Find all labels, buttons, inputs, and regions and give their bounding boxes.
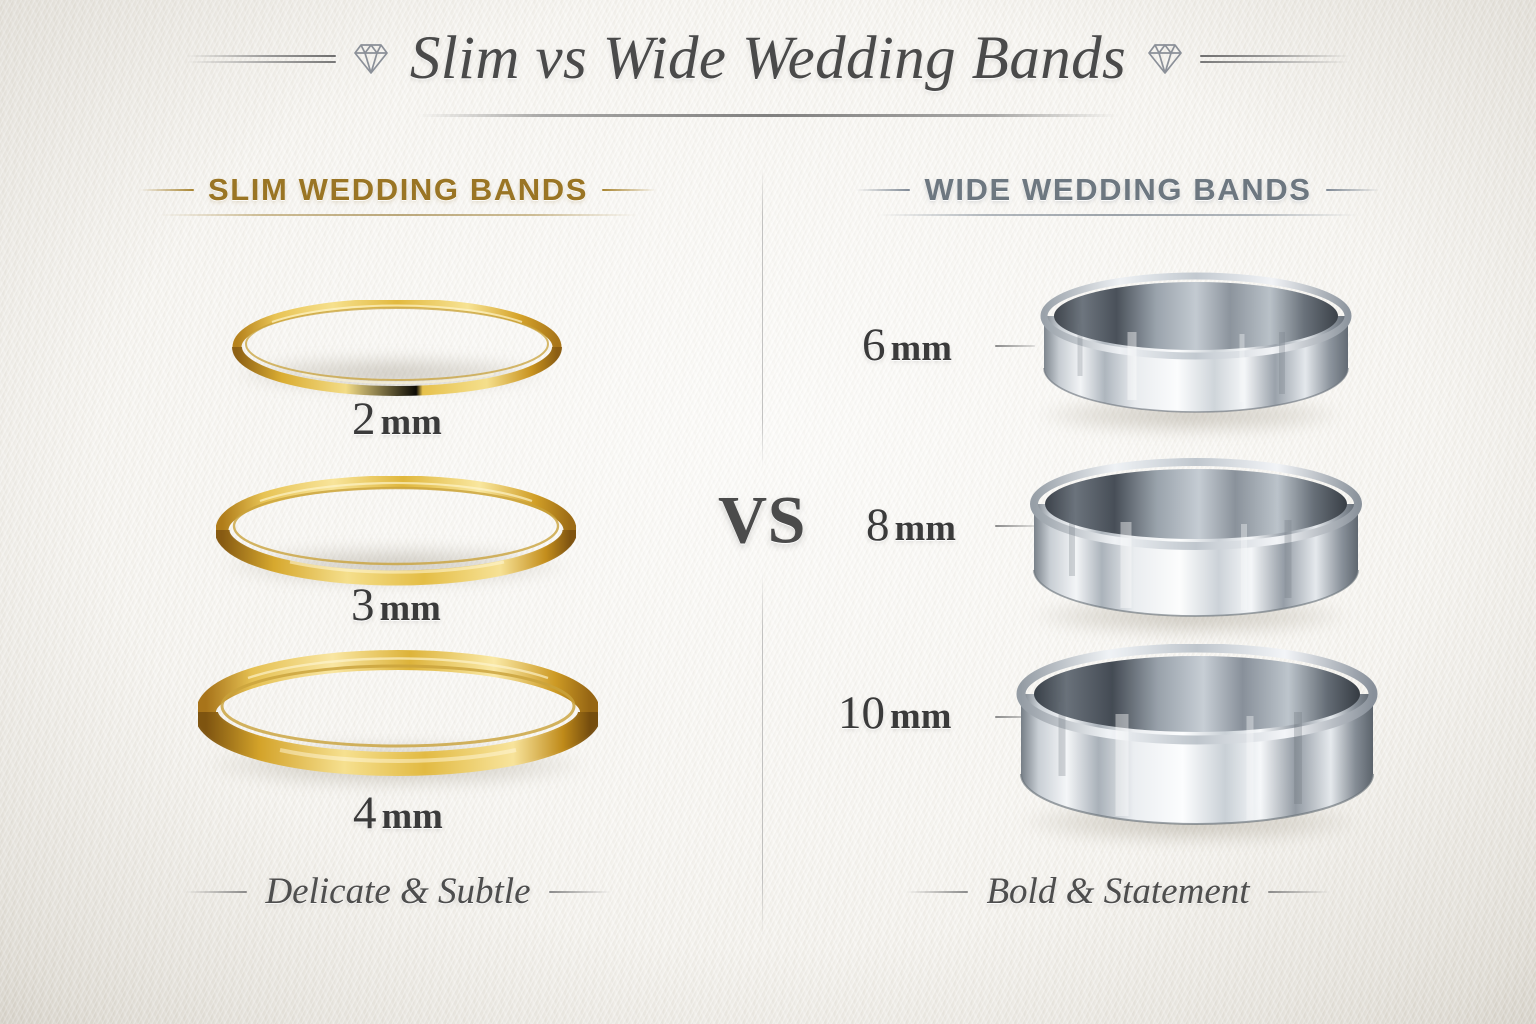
wide-heading-label: WIDE WEDDING BANDS xyxy=(924,172,1311,208)
wide-footer-label: Bold & Statement xyxy=(986,870,1249,913)
slim-footer-label: Delicate & Subtle xyxy=(265,870,530,913)
leader-dash-6mm xyxy=(995,345,1035,347)
title-rule-right xyxy=(1200,54,1350,64)
heading-dash-left xyxy=(140,189,194,191)
heading-dash-left xyxy=(856,189,910,191)
ring-label-2mm: 2mm xyxy=(232,392,562,446)
gold-ring-4mm xyxy=(198,650,598,800)
ring-label-10mm: 10mm xyxy=(838,686,952,740)
ring-label-8mm: 8mm xyxy=(866,498,956,552)
ring-label-3mm: 3mm xyxy=(216,578,576,632)
center-divider-top xyxy=(762,168,763,468)
slim-column-heading: SLIM WEDDING BANDS xyxy=(118,172,678,208)
silver-ring-10mm xyxy=(1012,644,1382,859)
silver-ring-6mm xyxy=(1036,272,1356,442)
diamond-icon xyxy=(1146,42,1184,76)
slim-heading-label: SLIM WEDDING BANDS xyxy=(208,172,588,208)
wide-column-heading: WIDE WEDDING BANDS xyxy=(838,172,1398,208)
footer-dash-left xyxy=(185,891,247,893)
infographic-canvas: Slim vs Wide Wedding Bands SLIM WEDDING … xyxy=(0,0,1536,1024)
silver-ring-8mm xyxy=(1026,458,1366,648)
heading-dash-right xyxy=(1326,189,1380,191)
heading-underline xyxy=(878,214,1358,216)
center-divider-bottom xyxy=(762,572,763,936)
footer-dash-left xyxy=(906,891,968,893)
heading-underline xyxy=(158,214,638,216)
vs-badge: VS xyxy=(718,481,806,560)
diamond-icon xyxy=(352,42,390,76)
ring-label-4mm: 4mm xyxy=(198,786,598,840)
heading-dash-right xyxy=(602,189,656,191)
title-underline xyxy=(418,114,1118,117)
footer-dash-right xyxy=(1268,891,1330,893)
title-rule-left xyxy=(186,54,336,64)
ring-label-6mm: 6mm xyxy=(862,318,952,372)
page-title-row: Slim vs Wide Wedding Bands xyxy=(0,24,1536,94)
wide-footer: Bold & Statement xyxy=(838,870,1398,913)
slim-footer: Delicate & Subtle xyxy=(118,870,678,913)
footer-dash-right xyxy=(549,891,611,893)
page-title: Slim vs Wide Wedding Bands xyxy=(406,24,1130,94)
